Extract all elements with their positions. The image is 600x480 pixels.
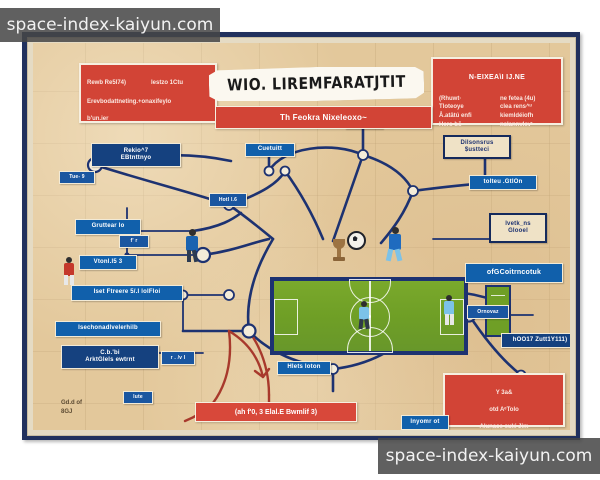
label-l21-text: hOO17 Zutt1Y111) xyxy=(513,337,568,345)
goalkeeper xyxy=(442,295,456,327)
label-l8-text: C.b.'bi ArktGlels ewtrnt xyxy=(85,350,135,365)
label-l10[interactable]: lute xyxy=(123,391,153,404)
label-l18-text: lvetk_ns Glooel xyxy=(505,221,531,236)
poster-title-ribbon: WIO. LIREMFARATJTIT xyxy=(209,65,425,103)
label-l3[interactable]: Gruttear lo xyxy=(75,219,141,235)
pitch-arc-top xyxy=(349,279,391,303)
label-l8[interactable]: C.b.'bi ArktGlels ewtrnt xyxy=(61,345,159,369)
label-l20[interactable]: Ornovaz xyxy=(467,305,509,319)
poster-subtitle: Th Feokra Nixeleoxo~ xyxy=(280,113,367,122)
card-bottom-right-line3: Alunace suki Jim xyxy=(451,423,557,430)
card-top-left-line1: Rewb Re5l74) xyxy=(87,79,145,88)
player-right xyxy=(385,227,405,263)
label-l1-text: Rekio^7 EBtnttnyo xyxy=(121,148,151,163)
card-top-right-col1: (Rhuwt· Tloteoye Å.atätú enfi Hero bõ xyxy=(439,95,494,130)
label-l13-text: Cuetuitt xyxy=(258,146,282,154)
label-l6[interactable]: Iset Ftreere 5/.I lolFloi xyxy=(71,285,183,301)
card-bottom-right-line1: Y 3a& xyxy=(451,389,557,398)
label-l13[interactable]: Cuetuitt xyxy=(245,143,295,157)
label-l21[interactable]: hOO17 Zutt1Y111) xyxy=(501,333,570,348)
soccer-pitch xyxy=(270,277,468,355)
label-l7-text: Isechonadlvelerhilb xyxy=(78,325,138,333)
card-top-left-line2: lestzo 1Ctu xyxy=(151,79,209,88)
card-top-right-header: N-EIXEA\I IJ.NE xyxy=(439,73,555,83)
card-top-left-line3: Erevbodattneting.+onaxifeylo xyxy=(87,98,209,107)
label-l11-text: Gd.d of 8GJ xyxy=(61,400,82,414)
label-l4[interactable]: f' r xyxy=(119,235,149,248)
label-l15-text: Hlets loton xyxy=(287,364,320,372)
label-l16[interactable]: Dilsonsrus $ustteci xyxy=(443,135,511,159)
label-l12-text: Hotl l.6 xyxy=(219,197,237,203)
label-l11: Gd.d of 8GJ xyxy=(61,391,117,415)
soccer-ball xyxy=(347,231,366,250)
poster-canvas: Rewb Re5l74) lestzo 1Ctu Erevbodattnetin… xyxy=(33,43,570,430)
label-l22[interactable]: lnyomr ot xyxy=(401,415,449,430)
label-l5[interactable]: Vtonl.l5 3 xyxy=(79,255,137,270)
label-l18[interactable]: lvetk_ns Glooel xyxy=(489,213,547,243)
trophy-icon xyxy=(332,239,346,265)
watermark-top-text: space-index-kaiyun.com xyxy=(7,15,214,35)
poster-bottom-banner: (ah f'0, 3 Elal.E Bwmlif 3) xyxy=(195,402,357,422)
card-top-right-col2: ne fetea (4u) clea rens^ᵘ kiemldéiofh ns… xyxy=(500,95,555,130)
label-region-heading[interactable]: Rekio^7 EBtnttnyo xyxy=(91,143,181,167)
label-l9-text: r . /v I xyxy=(171,355,186,361)
label-l22-text: lnyomr ot xyxy=(410,419,439,427)
label-l20-text: Ornovaz xyxy=(477,309,498,315)
label-l3-text: Gruttear lo xyxy=(92,223,125,231)
screenshot-stage: Rewb Re5l74) lestzo 1Ctu Erevbodattnetin… xyxy=(0,0,600,480)
label-l17-text: tolteu .GtlOn xyxy=(484,179,523,187)
label-l19-text: ofGCoitrncotuk xyxy=(487,269,541,278)
player-left xyxy=(183,229,201,263)
label-l6-text: Iset Ftreere 5/.I lolFloi xyxy=(94,289,161,297)
card-bottom-right: Y 3a& otd AᵉTolo Alunace suki Jim hegr t… xyxy=(443,373,565,427)
player-on-pitch xyxy=(356,301,372,331)
label-l16-text: Dilsonsrus $ustteci xyxy=(460,140,493,155)
poster-title: WIO. LIREMFARATJTIT xyxy=(227,73,406,95)
card-top-right: N-EIXEA\I IJ.NE (Rhuwt· Tloteoye Å.atätú… xyxy=(431,57,563,125)
label-l4-text: f' r xyxy=(131,238,138,244)
label-l10-text: lute xyxy=(133,394,143,400)
player-far-left xyxy=(61,257,77,287)
watermark-bottom: space-index-kaiyun.com xyxy=(378,438,600,474)
card-top-left: Rewb Re5l74) lestzo 1Ctu Erevbodattnetin… xyxy=(79,63,217,123)
card-bottom-right-line2: otd AᵉTolo xyxy=(451,406,557,415)
label-l5-text: Vtonl.l5 3 xyxy=(94,259,123,267)
poster-bottom-banner-text: (ah f'0, 3 Elal.E Bwmlif 3) xyxy=(235,409,317,416)
label-l15[interactable]: Hlets loton xyxy=(277,361,331,375)
label-l7[interactable]: Isechonadlvelerhilb xyxy=(55,321,161,337)
label-l9[interactable]: r . /v I xyxy=(161,351,195,365)
label-l19[interactable]: ofGCoitrncotuk xyxy=(465,263,563,283)
pitch-penalty-box-left xyxy=(274,299,298,335)
poster-subtitle-bar: Th Feokra Nixeleoxo~ xyxy=(215,106,432,129)
card-top-left-line4: b'un.ier xyxy=(87,115,209,124)
label-l12[interactable]: Hotl l.6 xyxy=(209,193,247,207)
poster-mat: Rewb Re5l74) lestzo 1Ctu Erevbodattnetin… xyxy=(27,37,576,436)
watermark-top: space-index-kaiyun.com xyxy=(0,8,220,42)
label-l17[interactable]: tolteu .GtlOn xyxy=(469,175,537,190)
label-l2[interactable]: Tue- 9 xyxy=(59,171,95,184)
poster-frame: Rewb Re5l74) lestzo 1Ctu Erevbodattnetin… xyxy=(22,32,580,440)
label-l2-text: Tue- 9 xyxy=(69,174,85,180)
watermark-bottom-text: space-index-kaiyun.com xyxy=(386,446,593,466)
